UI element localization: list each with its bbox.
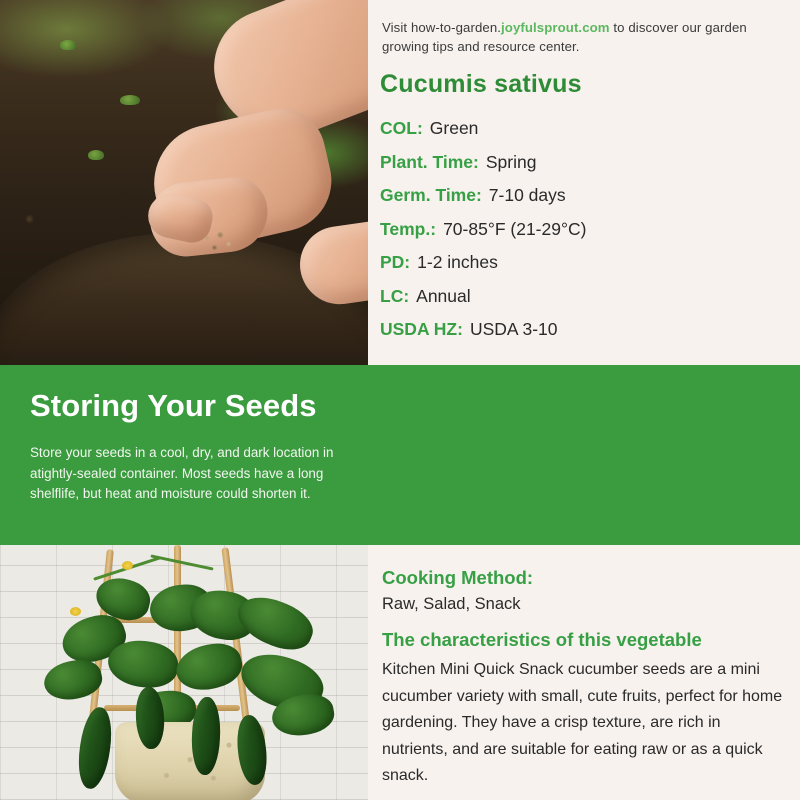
spec-label: Plant. Time: [380,152,479,173]
visit-website-line: Visit how-to-garden.joyfulsprout.com to … [382,18,786,56]
cooking-method-value: Raw, Salad, Snack [382,595,521,614]
sprout-icon [120,95,140,105]
spec-value: Annual [416,286,471,307]
spec-list: COL: Green Plant. Time: Spring Germ. Tim… [380,112,798,347]
spec-row-lc: LC: Annual [380,280,798,314]
specification-panel: Visit how-to-garden.joyfulsprout.com to … [368,0,800,365]
spec-value: USDA 3-10 [470,319,558,340]
spec-row-plant-time: Plant. Time: Spring [380,146,798,180]
sprout-icon [60,40,76,50]
visit-prefix-text: Visit how-to-garden. [382,20,501,35]
spec-label: LC: [380,286,409,307]
characteristics-body: Kitchen Mini Quick Snack cucumber seeds … [382,657,790,790]
spec-label: COL: [380,118,423,139]
flower-icon [122,561,133,570]
cooking-method-title: Cooking Method: [382,567,533,589]
spec-value: 70-85°F (21-29°C) [443,219,586,240]
cucumber-plant-photo [0,545,368,800]
spec-value: Spring [486,152,537,173]
spec-value: 7-10 days [489,185,566,206]
soil-sowing-photo [0,0,368,365]
spec-label: Germ. Time: [380,185,482,206]
spec-value: 1-2 inches [417,252,498,273]
species-name: Cucumis sativus [380,70,582,99]
spec-label: Temp.: [380,219,436,240]
storage-title: Storing Your Seeds [30,388,317,424]
spec-row-col: COL: Green [380,112,798,146]
spec-row-pd: PD: 1-2 inches [380,246,798,280]
seed-packet-infographic: Visit how-to-garden.joyfulsprout.com to … [0,0,800,800]
bottom-section: Cooking Method: Raw, Salad, Snack The ch… [0,545,800,800]
spec-row-germ-time: Germ. Time: 7-10 days [380,179,798,213]
storage-body-text: Store your seeds in a cool, dry, and dar… [30,443,360,505]
spec-row-temp: Temp.: 70-85°F (21-29°C) [380,213,798,247]
seeds-in-hand [196,226,240,256]
spec-label: PD: [380,252,410,273]
sprout-icon [88,150,104,160]
spec-value: Green [430,118,479,139]
spec-label: USDA HZ: [380,319,463,340]
characteristics-title: The characteristics of this vegetable [382,629,702,651]
top-section: Visit how-to-garden.joyfulsprout.com to … [0,0,800,365]
flower-icon [70,607,81,616]
cooking-panel: Cooking Method: Raw, Salad, Snack The ch… [368,545,800,800]
website-url[interactable]: joyfulsprout.com [501,20,610,35]
spec-row-usda-hz: USDA HZ: USDA 3-10 [380,313,798,347]
